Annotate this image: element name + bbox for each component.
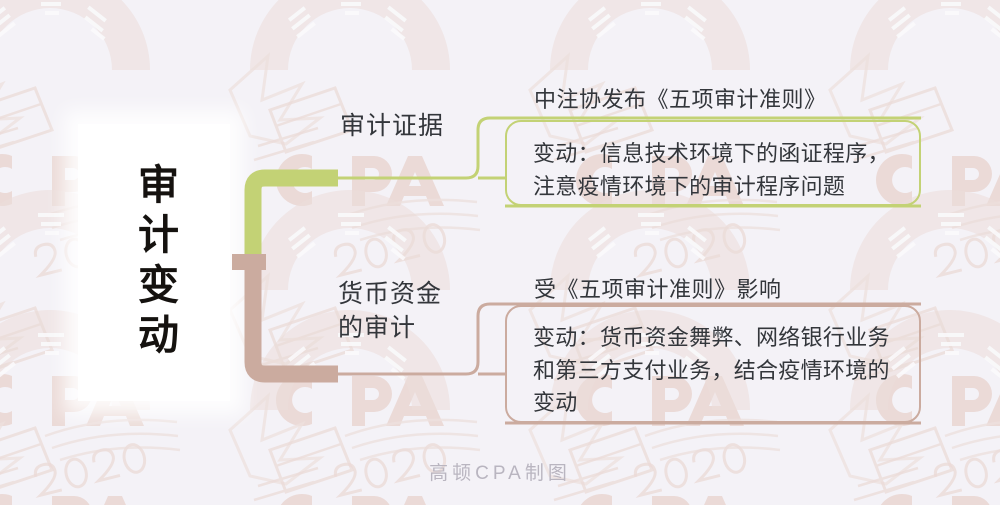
branch-heading-monetary-funds: 受《五项审计准则》影响 — [534, 272, 782, 304]
branch-heading-audit-evidence: 中注协发布《五项审计准则》 — [534, 82, 827, 114]
detail-text-monetary-funds: 变动：货币资金舞弊、网络银行业务 和第三方支付业务，结合疫情环境的 变动 — [533, 322, 933, 420]
root-node-title: 审计变动 — [78, 124, 230, 401]
branch-label-monetary-funds: 货币资金 的审计 — [338, 278, 442, 346]
branch-label-audit-evidence: 审计证据 — [340, 110, 444, 144]
mindmap-canvas: 审计变动 审计证据 货币资金 的审计 中注协发布《五项审计准则》 受《五项审计准… — [0, 0, 1000, 505]
footer-credit: 高顿CPA制图 — [0, 458, 1000, 485]
connector-branch-0-spine — [253, 178, 338, 262]
detail-text-audit-evidence: 变动：信息技术环境下的函证程序， 注意疫情环境下的审计程序问题 — [533, 138, 933, 203]
connector-branch-1-spine — [253, 255, 338, 374]
